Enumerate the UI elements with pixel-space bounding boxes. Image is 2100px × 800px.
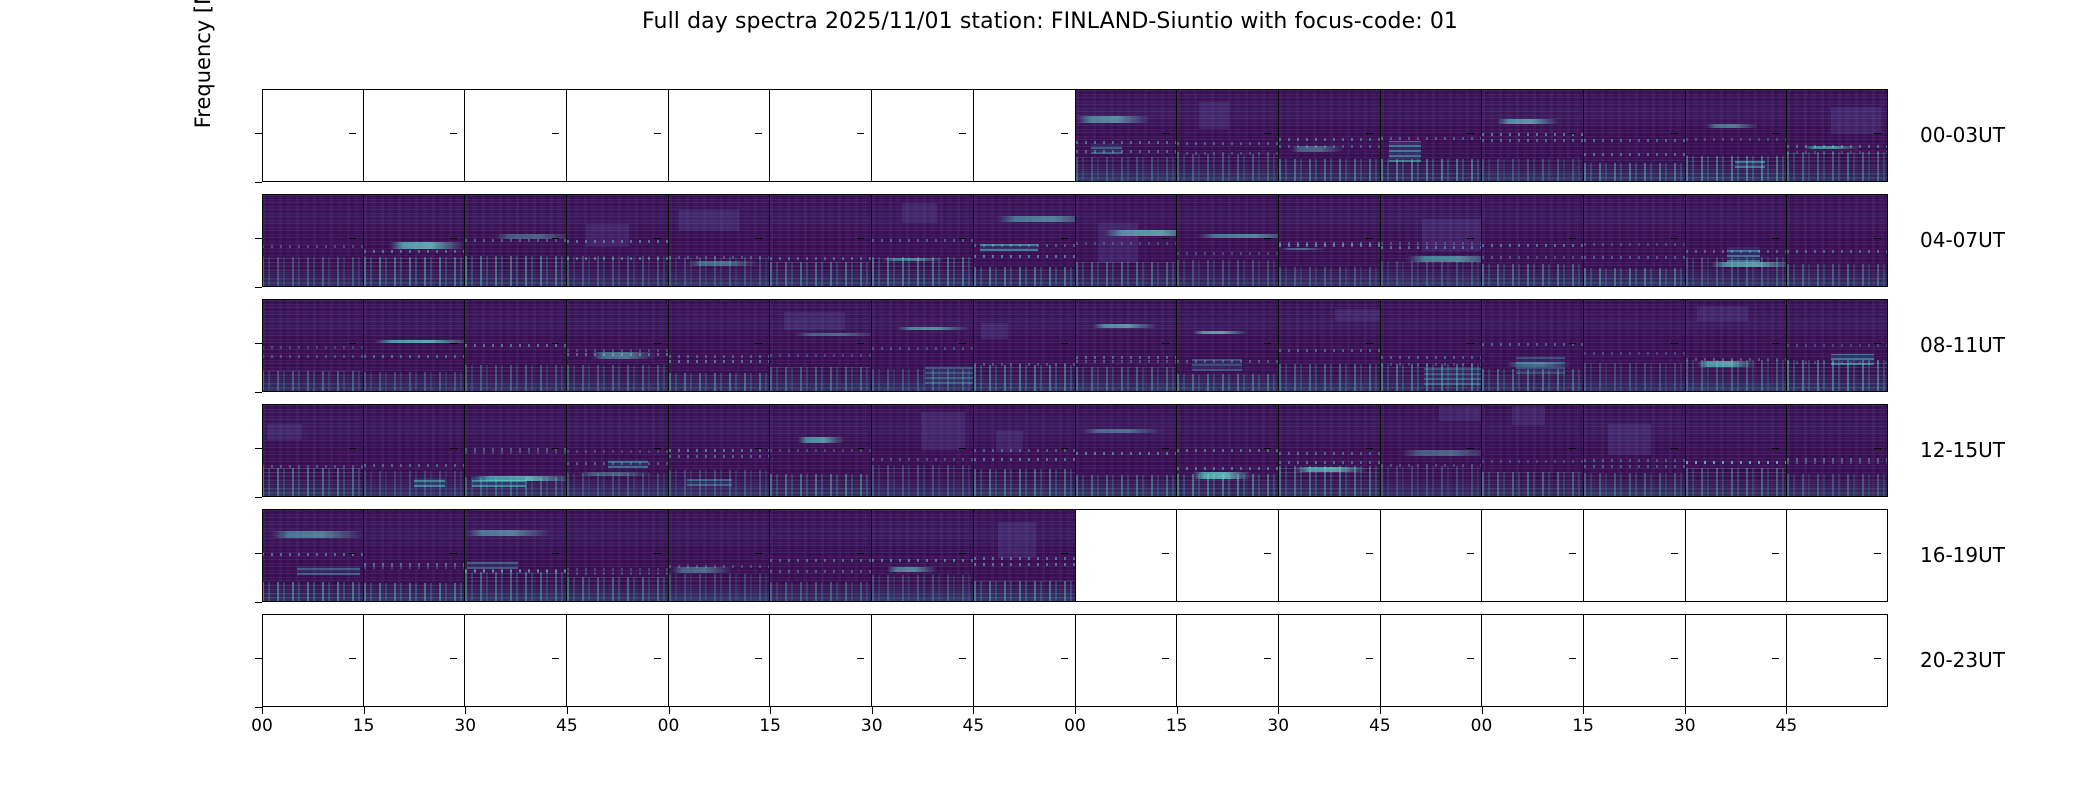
minor-tick xyxy=(1264,343,1271,344)
minor-tick xyxy=(1366,343,1373,344)
x-tick xyxy=(669,707,670,714)
spectrogram-image xyxy=(364,404,465,497)
minor-tick xyxy=(552,133,559,134)
spectrogram-image xyxy=(1686,89,1787,182)
minor-tick xyxy=(1264,133,1271,134)
minor-tick xyxy=(1061,238,1068,239)
spectrogram-cell[interactable] xyxy=(262,194,364,287)
minor-tick xyxy=(654,133,661,134)
spectrogram-cell[interactable] xyxy=(567,509,669,602)
spectrogram-cell[interactable] xyxy=(974,404,1076,497)
spectrogram-cell[interactable] xyxy=(1279,404,1381,497)
spectrogram-cell[interactable] xyxy=(364,509,466,602)
spectrogram-cell[interactable] xyxy=(1686,89,1788,182)
y-tick xyxy=(255,602,262,603)
minor-tick xyxy=(654,238,661,239)
minor-tick xyxy=(1467,133,1474,134)
minor-tick xyxy=(1061,448,1068,449)
minor-tick xyxy=(349,553,356,554)
spectrogram-image xyxy=(364,299,465,392)
spectrogram-cell[interactable] xyxy=(1381,194,1483,287)
spectrogram-cell[interactable] xyxy=(669,404,771,497)
spectrogram-cell[interactable] xyxy=(1177,614,1279,707)
spectrogram-image xyxy=(872,509,973,602)
x-tick xyxy=(973,707,974,714)
spectrogram-cell[interactable] xyxy=(465,614,567,707)
y-tick xyxy=(255,553,262,554)
minor-tick xyxy=(349,238,356,239)
spectrogram-cell[interactable] xyxy=(1787,299,1888,392)
minor-tick xyxy=(1467,658,1474,659)
panel-row-cells xyxy=(262,404,1888,497)
spectrogram-image xyxy=(1482,194,1583,287)
x-tick-label: 15 xyxy=(1572,716,1594,736)
minor-tick xyxy=(1671,448,1678,449)
minor-tick xyxy=(1366,448,1373,449)
minor-tick xyxy=(552,658,559,659)
spectrogram-image xyxy=(1482,404,1583,497)
spectrogram-image xyxy=(974,404,1075,497)
x-tick-label: 00 xyxy=(251,716,273,736)
minor-tick xyxy=(1264,658,1271,659)
spectrogram-image xyxy=(770,194,871,287)
minor-tick xyxy=(450,133,457,134)
y-tick xyxy=(255,497,262,498)
x-tick-label: 45 xyxy=(963,716,985,736)
spectrogram-cell[interactable] xyxy=(1279,194,1381,287)
spectrogram-cell[interactable] xyxy=(1482,614,1584,707)
spectrogram-cell[interactable] xyxy=(770,509,872,602)
row-time-label: 04-07UT xyxy=(1920,228,2005,252)
spectrogram-cell[interactable] xyxy=(262,509,364,602)
minor-tick xyxy=(1366,553,1373,554)
spectrogram-cell[interactable] xyxy=(1279,614,1381,707)
minor-tick xyxy=(349,448,356,449)
spectrogram-cell[interactable] xyxy=(1787,194,1888,287)
spectrogram-image xyxy=(1076,89,1177,182)
y-tick xyxy=(255,343,262,344)
minor-tick xyxy=(1772,133,1779,134)
minor-tick xyxy=(1366,133,1373,134)
spectrogram-cell[interactable] xyxy=(364,299,466,392)
spectrogram-cell[interactable] xyxy=(974,509,1076,602)
spectrogram-cell[interactable] xyxy=(1686,404,1788,497)
minor-tick xyxy=(1162,133,1169,134)
minor-tick xyxy=(1061,133,1068,134)
spectrogram-cell[interactable] xyxy=(465,509,567,602)
minor-tick xyxy=(1569,133,1576,134)
x-tick-label: 45 xyxy=(1369,716,1391,736)
y-tick xyxy=(255,658,262,659)
minor-tick xyxy=(552,343,559,344)
minor-tick xyxy=(857,553,864,554)
minor-tick xyxy=(1162,238,1169,239)
spectrogram-image xyxy=(1787,89,1888,182)
spectrogram-cell[interactable] xyxy=(1177,194,1279,287)
spectrogram-image xyxy=(669,194,770,287)
minor-tick xyxy=(1569,553,1576,554)
x-tick-label: 15 xyxy=(759,716,781,736)
spectrogram-cell[interactable] xyxy=(364,194,466,287)
spectrogram-cell[interactable] xyxy=(1584,509,1686,602)
minor-tick xyxy=(552,553,559,554)
minor-tick xyxy=(450,658,457,659)
spectrogram-cell[interactable] xyxy=(1076,194,1178,287)
spectrogram-image xyxy=(1076,299,1177,392)
row-time-label: 16-19UT xyxy=(1920,543,2005,567)
x-tick xyxy=(1685,707,1686,714)
spectrogram-image xyxy=(1381,404,1482,497)
spectrogram-cell[interactable] xyxy=(974,89,1076,182)
spectrogram-image xyxy=(1584,404,1685,497)
spectrogram-cell[interactable] xyxy=(1279,509,1381,602)
spectrogram-cell[interactable] xyxy=(974,614,1076,707)
minor-tick xyxy=(1772,343,1779,344)
minor-tick xyxy=(1874,133,1881,134)
spectrogram-cell[interactable] xyxy=(1177,89,1279,182)
minor-tick xyxy=(450,553,457,554)
minor-tick xyxy=(959,658,966,659)
x-tick-label: 30 xyxy=(1674,716,1696,736)
minor-tick xyxy=(959,553,966,554)
x-tick xyxy=(1380,707,1381,714)
minor-tick xyxy=(755,238,762,239)
minor-tick xyxy=(349,133,356,134)
spectrogram-image xyxy=(1381,89,1482,182)
spectrogram-cell[interactable] xyxy=(567,404,669,497)
spectrogram-image xyxy=(1787,299,1888,392)
spectrogram-cell[interactable] xyxy=(1584,299,1686,392)
spectrogram-image xyxy=(1076,404,1177,497)
row-time-label: 00-03UT xyxy=(1920,123,2005,147)
minor-tick xyxy=(1569,448,1576,449)
y-axis-label: Frequency [MHz] xyxy=(191,0,215,200)
spectrogram-image xyxy=(1177,194,1278,287)
spectrogram-cell[interactable] xyxy=(1279,89,1381,182)
minor-tick xyxy=(857,448,864,449)
spectrogram-cell[interactable] xyxy=(1686,299,1788,392)
spectrogram-cell[interactable] xyxy=(1381,404,1483,497)
minor-tick xyxy=(755,553,762,554)
spectrogram-cell[interactable] xyxy=(1381,509,1483,602)
x-tick xyxy=(262,707,263,714)
spectrogram-image xyxy=(567,299,668,392)
spectrogram-cell[interactable] xyxy=(1787,89,1888,182)
spectrogram-image xyxy=(262,194,363,287)
x-tick-label: 15 xyxy=(1166,716,1188,736)
minor-tick xyxy=(654,658,661,659)
minor-tick xyxy=(1264,553,1271,554)
spectrogram-cell[interactable] xyxy=(1686,194,1788,287)
panel-row-cells xyxy=(262,194,1888,287)
spectrogram-cell[interactable] xyxy=(974,194,1076,287)
minor-tick xyxy=(1467,553,1474,554)
spectrogram-cell[interactable] xyxy=(465,89,567,182)
minor-tick xyxy=(857,343,864,344)
panel-row xyxy=(262,299,1888,392)
spectrogram-cell[interactable] xyxy=(669,194,771,287)
spectrogram-cell[interactable] xyxy=(1076,509,1178,602)
x-tick-label: 30 xyxy=(1267,716,1289,736)
x-tick xyxy=(364,707,365,714)
minor-tick xyxy=(1671,553,1678,554)
minor-tick xyxy=(755,448,762,449)
x-tick-label: 00 xyxy=(658,716,680,736)
minor-tick xyxy=(1772,448,1779,449)
spectrogram-image xyxy=(262,299,363,392)
spectrogram-cell[interactable] xyxy=(770,89,872,182)
spectrogram-image xyxy=(1686,194,1787,287)
spectrogram-image xyxy=(1076,194,1177,287)
minor-tick xyxy=(1671,658,1678,659)
x-tick xyxy=(1583,707,1584,714)
spectrogram-cell[interactable] xyxy=(465,404,567,497)
panel-row-cells xyxy=(262,299,1888,392)
spectrogram-image xyxy=(770,404,871,497)
y-tick xyxy=(255,238,262,239)
panel-row-cells xyxy=(262,614,1888,707)
row-time-label: 12-15UT xyxy=(1920,438,2005,462)
y-tick xyxy=(255,392,262,393)
minor-tick xyxy=(959,238,966,239)
spectrogram-cell[interactable] xyxy=(1787,404,1888,497)
spectrogram-image xyxy=(1787,194,1888,287)
minor-tick xyxy=(755,133,762,134)
spectrogram-cell[interactable] xyxy=(1482,194,1584,287)
spectrogram-cell[interactable] xyxy=(669,614,771,707)
spectrogram-cell[interactable] xyxy=(262,299,364,392)
spectrogram-image xyxy=(1381,299,1482,392)
spectrogram-image xyxy=(1584,194,1685,287)
minor-tick xyxy=(857,133,864,134)
spectrogram-image xyxy=(872,404,973,497)
x-tick-label: 00 xyxy=(1064,716,1086,736)
spectrogram-image xyxy=(1482,299,1583,392)
y-tick xyxy=(255,133,262,134)
spectrogram-cell[interactable] xyxy=(1584,614,1686,707)
minor-tick xyxy=(552,448,559,449)
spectrogram-cell[interactable] xyxy=(1076,404,1178,497)
x-tick xyxy=(1075,707,1076,714)
x-tick xyxy=(1482,707,1483,714)
minor-tick xyxy=(1162,343,1169,344)
panel-row xyxy=(262,404,1888,497)
minor-tick xyxy=(552,238,559,239)
minor-tick xyxy=(654,553,661,554)
spectrogram-image xyxy=(1482,89,1583,182)
spectrogram-image xyxy=(669,509,770,602)
minor-tick xyxy=(1569,343,1576,344)
minor-tick xyxy=(1569,658,1576,659)
spectrogram-cell[interactable] xyxy=(872,194,974,287)
minor-tick xyxy=(1162,553,1169,554)
spectrogram-image xyxy=(1279,404,1380,497)
x-tick xyxy=(1786,707,1787,714)
spectrogram-cell[interactable] xyxy=(1381,299,1483,392)
spectrogram-cell[interactable] xyxy=(1381,614,1483,707)
minor-tick xyxy=(1874,343,1881,344)
minor-tick xyxy=(1467,343,1474,344)
spectrogram-image xyxy=(1177,404,1278,497)
spectrogram-image xyxy=(1279,194,1380,287)
spectrogram-image xyxy=(1279,89,1380,182)
spectrogram-cell[interactable] xyxy=(669,299,771,392)
spectrogram-cell[interactable] xyxy=(669,509,771,602)
x-tick xyxy=(1177,707,1178,714)
spectrogram-image xyxy=(465,194,566,287)
spectrogram-cell[interactable] xyxy=(872,509,974,602)
spectrogram-image xyxy=(567,509,668,602)
spectrogram-cell[interactable] xyxy=(1482,299,1584,392)
spectrogram-cell[interactable] xyxy=(364,614,466,707)
spectrogram-image xyxy=(364,194,465,287)
minor-tick xyxy=(857,238,864,239)
minor-tick xyxy=(1061,658,1068,659)
spectrogram-image xyxy=(465,299,566,392)
spectrogram-cell[interactable] xyxy=(1787,509,1888,602)
spectrogram-cell[interactable] xyxy=(262,404,364,497)
minor-tick xyxy=(755,658,762,659)
spectrogram-cell[interactable] xyxy=(770,614,872,707)
spectrogram-cell[interactable] xyxy=(1381,89,1483,182)
minor-tick xyxy=(1162,448,1169,449)
panel-row-cells xyxy=(262,89,1888,182)
spectrogram-cell[interactable] xyxy=(1076,614,1178,707)
x-tick-label: 45 xyxy=(1776,716,1798,736)
spectrogram-cell[interactable] xyxy=(465,299,567,392)
spectrogram-cell[interactable] xyxy=(364,89,466,182)
minor-tick xyxy=(1671,343,1678,344)
spectrogram-image xyxy=(1177,89,1278,182)
spectrogram-cell[interactable] xyxy=(770,194,872,287)
minor-tick xyxy=(1264,448,1271,449)
spectrogram-cell[interactable] xyxy=(465,194,567,287)
spectrogram-cell[interactable] xyxy=(872,299,974,392)
minor-tick xyxy=(450,238,457,239)
spectrogram-image xyxy=(465,404,566,497)
spectrogram-image xyxy=(1279,299,1380,392)
panel-row xyxy=(262,509,1888,602)
minor-tick xyxy=(1772,238,1779,239)
x-tick-label: 30 xyxy=(454,716,476,736)
minor-tick xyxy=(1874,553,1881,554)
spectrogram-cell[interactable] xyxy=(1584,404,1686,497)
y-tick xyxy=(255,287,262,288)
row-time-label: 20-23UT xyxy=(1920,648,2005,672)
x-tick xyxy=(1278,707,1279,714)
spectrogram-image xyxy=(1787,404,1888,497)
spectrogram-image xyxy=(974,194,1075,287)
minor-tick xyxy=(1772,553,1779,554)
minor-tick xyxy=(1671,238,1678,239)
panel-row-cells xyxy=(262,509,1888,602)
page-title: Full day spectra 2025/11/01 station: FIN… xyxy=(0,9,2100,34)
spectrogram-cell[interactable] xyxy=(567,614,669,707)
spectrogram-cell[interactable] xyxy=(770,404,872,497)
y-tick xyxy=(255,182,262,183)
spectrogram-image xyxy=(872,194,973,287)
spectrogram-image xyxy=(770,509,871,602)
x-tick-label: 00 xyxy=(1471,716,1493,736)
spectrogram-cell[interactable] xyxy=(1787,614,1888,707)
x-tick xyxy=(770,707,771,714)
minor-tick xyxy=(1061,553,1068,554)
spectrogram-cell[interactable] xyxy=(262,614,364,707)
spectrogram-image xyxy=(669,404,770,497)
spectrogram-image xyxy=(1381,194,1482,287)
spectrogram-cell[interactable] xyxy=(1482,509,1584,602)
minor-tick xyxy=(450,343,457,344)
panel-row xyxy=(262,194,1888,287)
minor-tick xyxy=(1874,448,1881,449)
spectrogram-cell[interactable] xyxy=(1482,89,1584,182)
minor-tick xyxy=(959,133,966,134)
minor-tick xyxy=(1874,658,1881,659)
minor-tick xyxy=(1467,238,1474,239)
minor-tick xyxy=(349,343,356,344)
spectrogram-image xyxy=(567,194,668,287)
spectrogram-cell[interactable] xyxy=(1584,194,1686,287)
spectrogram-cell[interactable] xyxy=(1482,404,1584,497)
minor-tick xyxy=(450,448,457,449)
minor-tick xyxy=(1874,238,1881,239)
spectrogram-image xyxy=(567,404,668,497)
spectrogram-cell[interactable] xyxy=(872,614,974,707)
spectrogram-cell[interactable] xyxy=(1584,89,1686,182)
x-tick-label: 45 xyxy=(556,716,578,736)
minor-tick xyxy=(959,343,966,344)
spectrogram-image xyxy=(262,509,363,602)
spectrogram-cell[interactable] xyxy=(567,194,669,287)
spectrogram-cell[interactable] xyxy=(364,404,466,497)
spectrogram-cell[interactable] xyxy=(669,89,771,182)
y-tick xyxy=(255,448,262,449)
spectrogram-cell[interactable] xyxy=(1686,614,1788,707)
spectrogram-cell[interactable] xyxy=(1177,299,1279,392)
spectrogram-cell[interactable] xyxy=(262,89,364,182)
minor-tick xyxy=(959,448,966,449)
minor-tick xyxy=(1162,658,1169,659)
spectrogram-image xyxy=(974,299,1075,392)
spectrogram-cell[interactable] xyxy=(1686,509,1788,602)
spectrogram-cell[interactable] xyxy=(1279,299,1381,392)
panel-row xyxy=(262,89,1888,182)
minor-tick xyxy=(1671,133,1678,134)
spectrogram-cell[interactable] xyxy=(1076,299,1178,392)
minor-tick xyxy=(755,343,762,344)
spectrogram-cell[interactable] xyxy=(770,299,872,392)
spectrogram-cell[interactable] xyxy=(872,404,974,497)
spectrogram-cell[interactable] xyxy=(1177,404,1279,497)
spectrogram-cell[interactable] xyxy=(872,89,974,182)
spectrogram-image xyxy=(1177,299,1278,392)
spectrogram-cell[interactable] xyxy=(567,299,669,392)
spectrogram-figure: Full day spectra 2025/11/01 station: FIN… xyxy=(0,0,2100,800)
spectrogram-image xyxy=(1584,89,1685,182)
spectrogram-image xyxy=(872,299,973,392)
x-tick-label: 15 xyxy=(353,716,375,736)
spectrogram-cell[interactable] xyxy=(974,299,1076,392)
spectrogram-cell[interactable] xyxy=(1177,509,1279,602)
x-tick xyxy=(567,707,568,714)
spectrogram-image xyxy=(770,299,871,392)
minor-tick xyxy=(654,343,661,344)
spectrogram-cell[interactable] xyxy=(567,89,669,182)
spectrogram-cell[interactable] xyxy=(1076,89,1178,182)
spectrogram-image xyxy=(669,299,770,392)
spectrogram-image xyxy=(974,509,1075,602)
minor-tick xyxy=(1772,658,1779,659)
